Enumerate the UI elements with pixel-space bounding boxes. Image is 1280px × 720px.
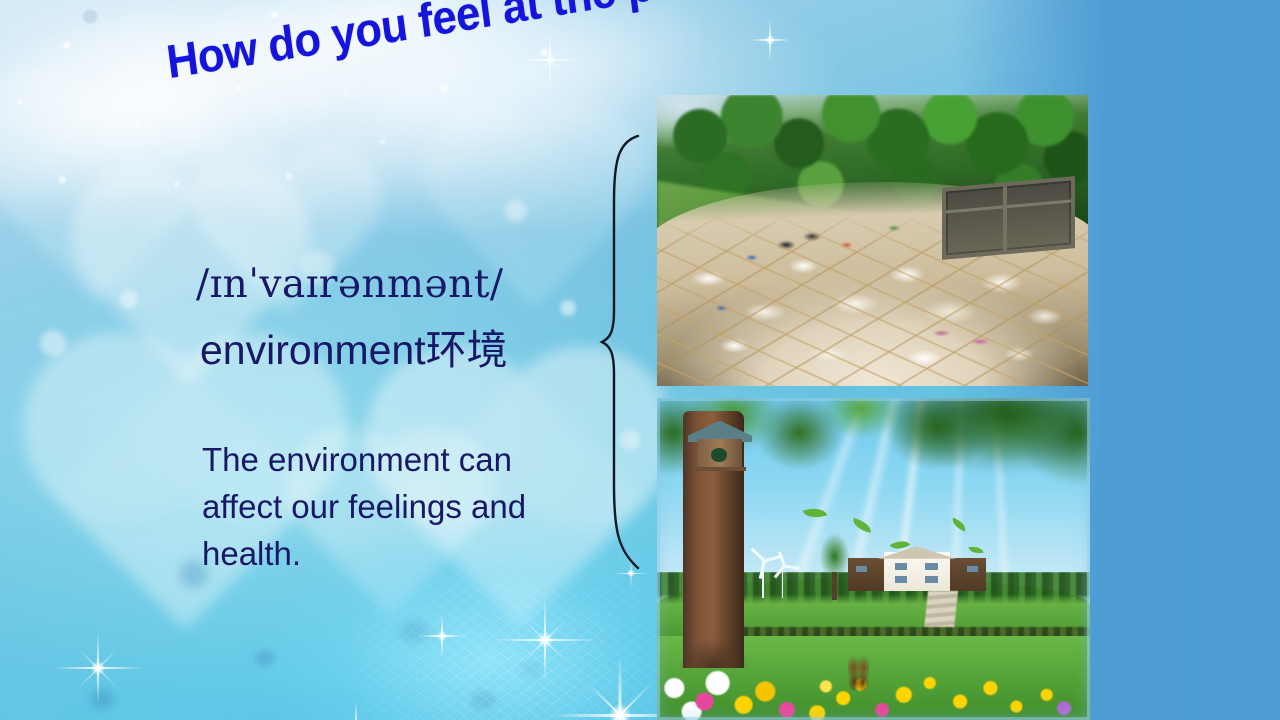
truck-bed [942, 176, 1075, 260]
foreground-tree [813, 533, 856, 597]
butterfly-icon [848, 656, 870, 691]
background-heart-shape [20, 120, 170, 270]
picture-polluted-environment [657, 95, 1088, 386]
curly-brace-icon [592, 132, 652, 572]
body-sentence: The environment can affect our feelings … [202, 437, 562, 578]
wildflowers [657, 636, 1090, 720]
wind-turbine [752, 553, 774, 598]
vocabulary-word: environment环境 [200, 316, 508, 376]
slide-canvas: How do you feel at the pictures? /ɪnˈvaɪ… [0, 0, 1280, 720]
tree-canopy-shadow [822, 398, 1090, 475]
ipa-pronunciation: /ɪnˈvaɪrənmənt/ [196, 262, 504, 307]
country-house [848, 546, 987, 591]
picture-clean-environment [657, 398, 1090, 720]
wind-turbine [774, 559, 791, 598]
birdhouse-icon [694, 421, 746, 476]
background-heart-shape [470, 150, 600, 280]
